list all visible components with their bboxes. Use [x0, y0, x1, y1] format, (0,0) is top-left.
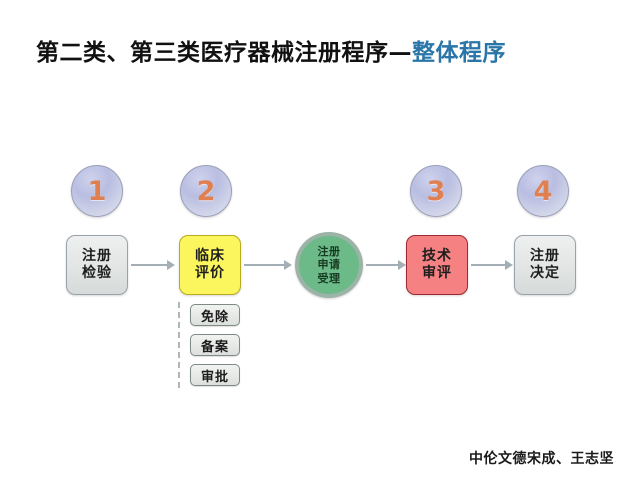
arrow-step3-to-step4: [471, 260, 513, 270]
arrow-head: [398, 260, 406, 270]
process-label-line-1: 临床: [195, 248, 225, 266]
process-box-registration-decision[interactable]: 注册 决定: [514, 235, 576, 295]
process-label-line-2: 检验: [82, 265, 112, 283]
step-number-4: 4: [534, 178, 553, 205]
step-number-3: 3: [427, 178, 446, 205]
arrow-shaft: [244, 264, 284, 266]
process-box-registration-testing[interactable]: 注册 检验: [66, 235, 128, 295]
arrow-shaft: [471, 264, 505, 266]
arrow-acceptance-to-step3: [366, 260, 406, 270]
step-number-1: 1: [88, 178, 107, 205]
sub-box-label: 审批: [201, 366, 229, 385]
step-number-2: 2: [197, 178, 216, 205]
sub-box-filing[interactable]: 备案: [190, 334, 240, 356]
dashed-connector-line: [178, 302, 180, 388]
process-box-technical-review[interactable]: 技术 审评: [406, 235, 468, 295]
process-label-line-1: 注册: [82, 248, 112, 266]
sub-box-approval[interactable]: 审批: [190, 364, 240, 386]
step-circle-3: 3: [410, 165, 462, 217]
arrow-shaft: [131, 264, 167, 266]
process-label-line-1: 注册: [530, 248, 560, 266]
process-oval-application-acceptance[interactable]: 注册 申请 受理: [295, 232, 363, 298]
flowchart-canvas: 1 2 3 4 注册 检验 临床 评价 注册 申请 受理 技术 审评: [0, 0, 640, 480]
process-label-line-2: 决定: [530, 265, 560, 283]
arrow-shaft: [366, 264, 398, 266]
step-circle-2: 2: [180, 165, 232, 217]
step-circle-4: 4: [517, 165, 569, 217]
process-label-line-2: 评价: [195, 265, 225, 283]
arrow-step2-to-acceptance: [244, 260, 292, 270]
process-label-line-3: 受理: [318, 272, 341, 285]
arrow-head: [284, 260, 292, 270]
sub-box-label: 免除: [201, 306, 229, 325]
sub-box-exemption[interactable]: 免除: [190, 304, 240, 326]
step-circle-1: 1: [71, 165, 123, 217]
process-box-clinical-evaluation[interactable]: 临床 评价: [179, 235, 241, 295]
process-label-line-1: 技术: [422, 248, 452, 266]
process-label-line-1: 注册: [318, 245, 341, 258]
sub-box-label: 备案: [201, 336, 229, 355]
arrow-head: [505, 260, 513, 270]
arrow-head: [167, 260, 175, 270]
process-label-line-2: 申请: [318, 258, 341, 271]
arrow-step1-to-step2: [131, 260, 175, 270]
footer-credit: 中伦文德宋成、王志坚: [469, 448, 614, 468]
sub-branch-group: 免除 备案 审批: [178, 300, 270, 392]
process-label-line-2: 审评: [422, 265, 452, 283]
